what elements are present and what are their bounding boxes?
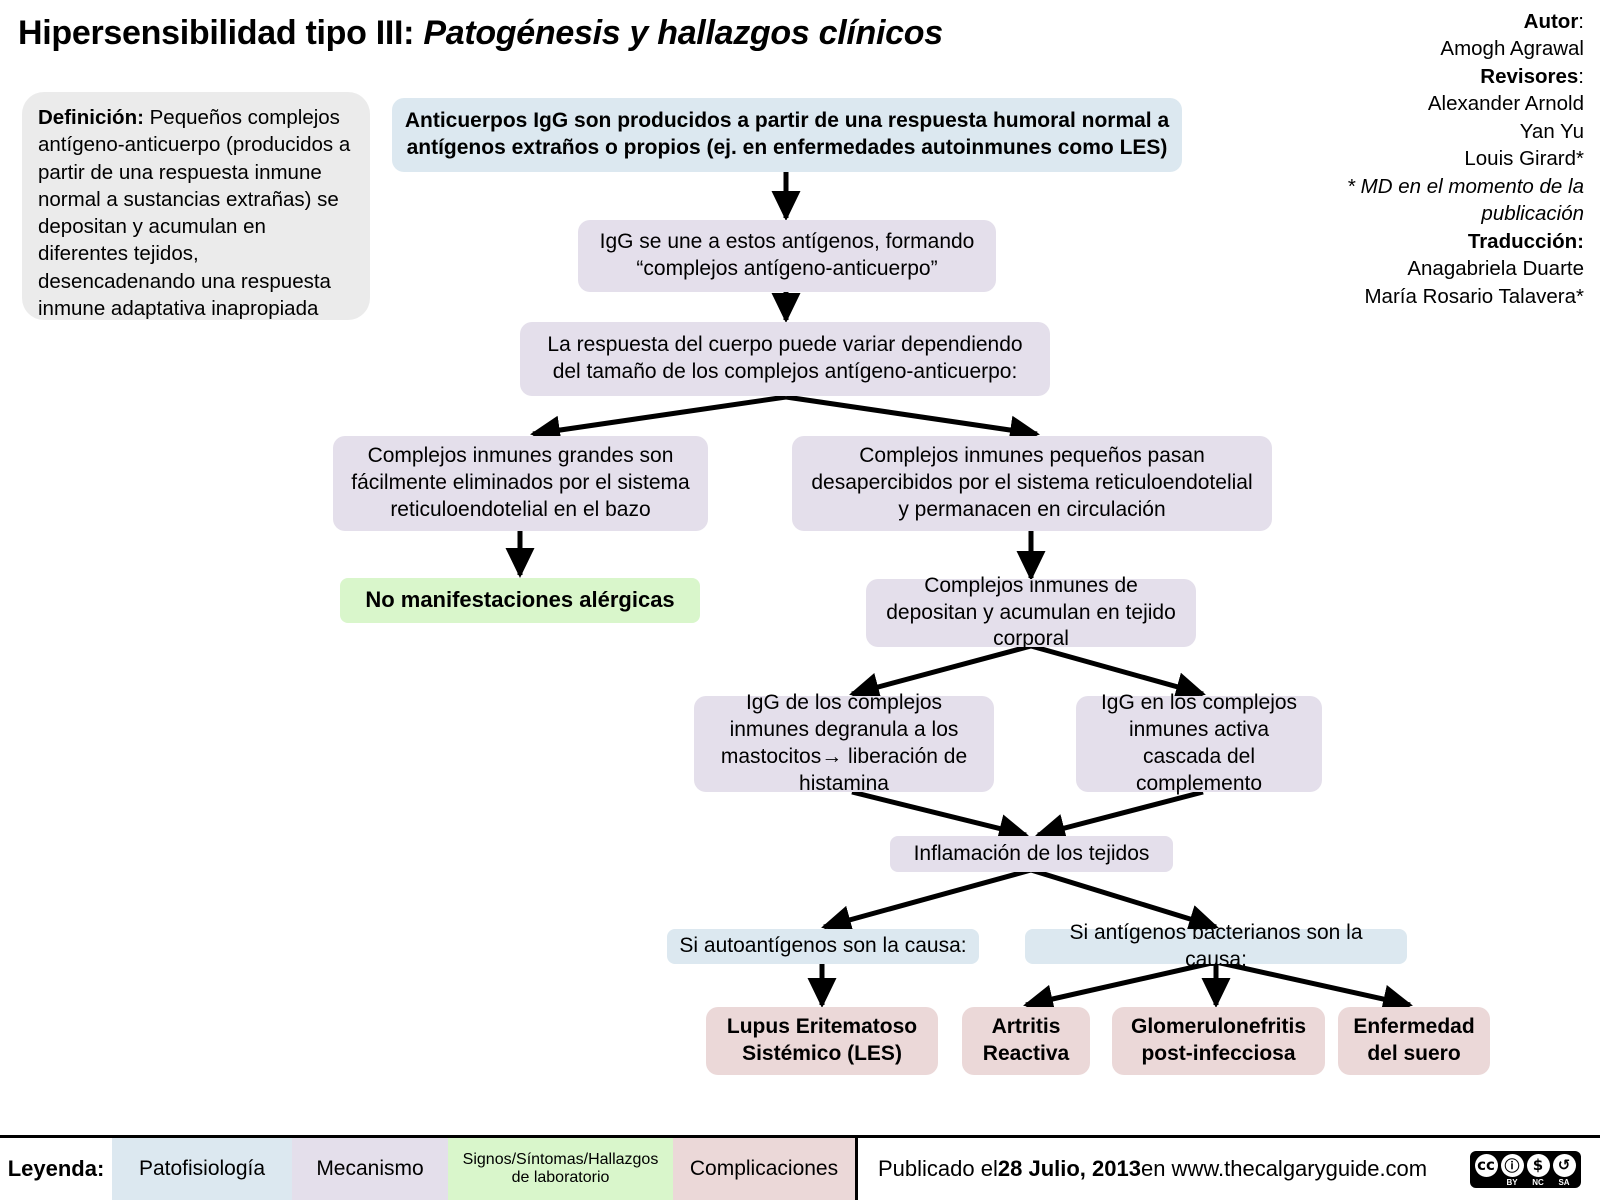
- node-small-complexes: Complejos inmunes pequeños pasan desaper…: [792, 436, 1272, 531]
- node-body-response: La respuesta del cuerpo puede variar dep…: [520, 322, 1050, 396]
- node-reactive-arthritis: Artritis Reactiva: [962, 1007, 1090, 1075]
- page-title-main: Hipersensibilidad tipo III:: [18, 14, 414, 52]
- cc-badge: cc ⓘ $ ↺ BY NC SA: [1470, 1151, 1581, 1188]
- node-large-complexes: Complejos inmunes grandes son fácilmente…: [333, 436, 708, 531]
- reviewer-name: Alexander Arnold: [1254, 90, 1584, 117]
- translator-name: Anagabriela Duarte: [1254, 255, 1584, 282]
- cc-sa-label: SA: [1553, 1178, 1576, 1187]
- reviewer-name: Louis Girard*: [1254, 145, 1584, 172]
- cc-nc-label: NC: [1527, 1178, 1550, 1187]
- node-if-bacterial-antigens: Si antígenos bacterianos son la causa:: [1025, 929, 1407, 964]
- creative-commons-license[interactable]: cc ⓘ $ ↺ BY NC SA: [1450, 1138, 1600, 1200]
- definition-label: Definición:: [38, 106, 144, 129]
- cc-label-row: BY NC SA: [1475, 1178, 1576, 1187]
- node-serum-sickness: Enfermedad del suero: [1338, 1007, 1490, 1075]
- legend-item-mechanism: Mecanismo: [292, 1138, 448, 1200]
- node-igg-binds: IgG se une a estos antígenos, formando “…: [578, 220, 996, 292]
- node-post-infectious-glomerulonephritis: Glomerulonefritis post-infecciosa: [1112, 1007, 1325, 1075]
- node-immune-complex-deposit: Complejos inmunes de depositan y acumula…: [866, 579, 1196, 647]
- cc-by-icon: ⓘ: [1501, 1154, 1524, 1177]
- legend-item-complications: Complicaciones: [673, 1138, 855, 1200]
- publication-suffix: en www.thecalgaryguide.com: [1141, 1156, 1427, 1182]
- legend-item-pathophysiology: Patofisiología: [112, 1138, 292, 1200]
- author-name: Amogh Agrawal: [1254, 35, 1584, 62]
- node-systemic-lupus-erythematosus: Lupus Eritematoso Sistémico (LES): [706, 1007, 938, 1075]
- definition-box: Definición: Pequeños complejos antígeno-…: [22, 92, 370, 320]
- publication-prefix: Publicado el: [878, 1156, 998, 1182]
- node-complement-activation: IgG en los complejos inmunes activa casc…: [1076, 696, 1322, 792]
- legend-title: Leyenda:: [0, 1138, 112, 1200]
- page-title-subtitle: Patogénesis y hallazgos clínicos: [423, 14, 942, 52]
- node-igg-production: Anticuerpos IgG son producidos a partir …: [392, 98, 1182, 172]
- translator-name: María Rosario Talavera*: [1254, 283, 1584, 310]
- definition-text: Pequeños complejos antígeno-anticuerpo (…: [38, 106, 350, 320]
- node-mast-cell-degranulation: IgG de los complejos inmunes degranula a…: [694, 696, 994, 792]
- reviewers-label: Revisores: [1480, 65, 1578, 88]
- node-no-allergic-manifestations: No manifestaciones alérgicas: [340, 578, 700, 623]
- cc-icon-row: cc ⓘ $ ↺: [1475, 1154, 1576, 1177]
- cc-spacer: [1475, 1178, 1498, 1187]
- page-title: Hipersensibilidad tipo III: Patogénesis …: [18, 14, 943, 53]
- reviewer-name: Yan Yu: [1254, 118, 1584, 145]
- legend-item-signs-symptoms: Signos/Síntomas/Hallazgos de laboratorio: [448, 1138, 673, 1200]
- translation-label: Traducción:: [1254, 228, 1584, 255]
- diagram-canvas: Hipersensibilidad tipo III: Patogénesis …: [0, 0, 1600, 1200]
- legend-bar: Leyenda: Patofisiología Mecanismo Signos…: [0, 1135, 1600, 1200]
- credits-block: Autor: Amogh Agrawal Revisores: Alexande…: [1254, 8, 1584, 310]
- publication-date: 28 Julio, 2013: [998, 1156, 1141, 1182]
- cc-logo-icon: cc: [1475, 1154, 1498, 1177]
- node-if-autoantigens: Si autoantígenos son la causa:: [667, 929, 979, 964]
- node-tissue-inflammation: Inflamación de los tejidos: [890, 836, 1173, 872]
- cc-nc-icon: $: [1527, 1154, 1550, 1177]
- credits-footnote: * MD en el momento de la publicación: [1254, 173, 1584, 228]
- publication-info: Publicado el 28 Julio, 2013 en www.theca…: [855, 1138, 1450, 1200]
- author-label: Autor: [1524, 10, 1579, 33]
- cc-by-label: BY: [1501, 1178, 1524, 1187]
- cc-sa-icon: ↺: [1553, 1154, 1576, 1177]
